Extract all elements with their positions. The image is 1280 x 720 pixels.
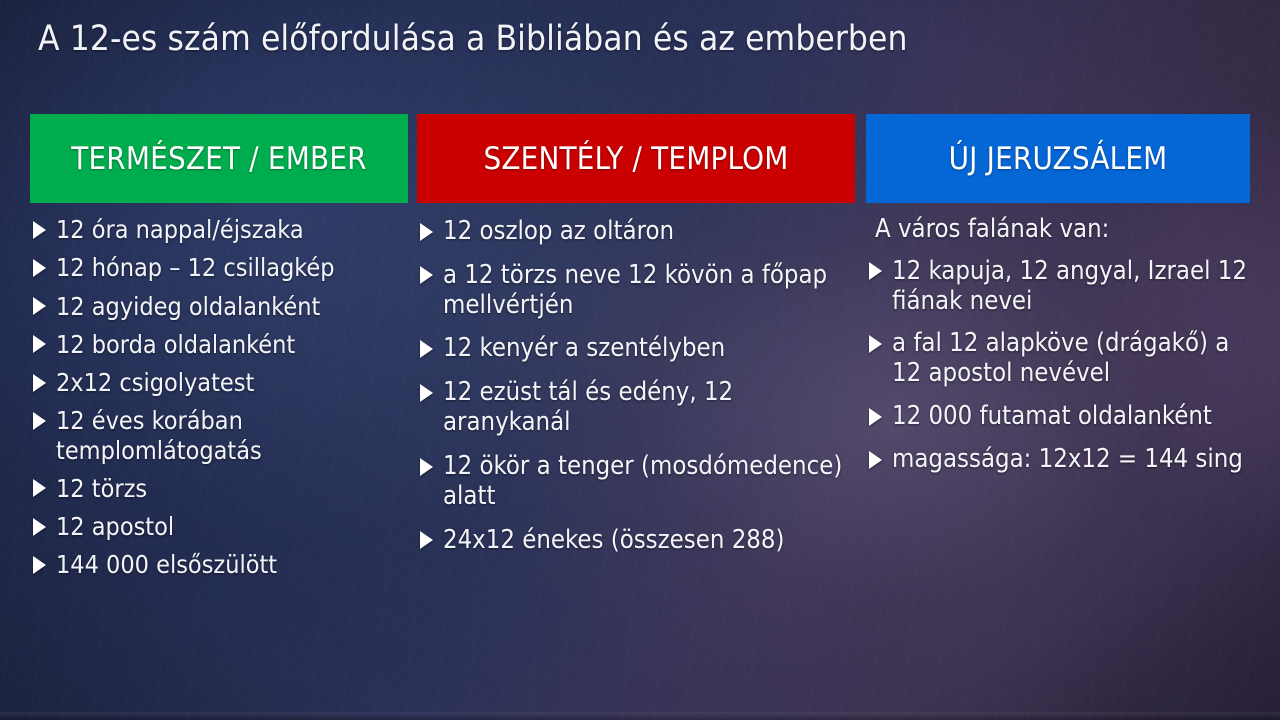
bullet-list-uj-jeruzsalem: A város falának van: 12 kapuja, 12 angya… <box>866 215 1250 475</box>
list-item: 12 apostol <box>30 512 408 541</box>
triangle-right-icon <box>869 451 882 469</box>
list-item: 12 agyideg oldalanként <box>30 292 408 321</box>
triangle-right-icon <box>420 266 433 284</box>
list-item-label: 12 agyideg oldalanként <box>56 292 408 321</box>
list-item: 12 000 futamat oldalanként <box>866 402 1250 432</box>
list-item: 12 kapuja, 12 angyal, Izrael 12 fiának n… <box>866 257 1250 317</box>
list-item-label: 2x12 csigolyatest <box>56 368 408 397</box>
list-item-label: 12 éves korában templomlátogatás <box>56 406 408 465</box>
list-item: 12 éves korában templomlátogatás <box>30 406 408 465</box>
triangle-right-icon <box>33 412 46 430</box>
list-item: a 12 törzs neve 12 kövön a főpap mellvér… <box>417 261 855 321</box>
triangle-right-icon <box>869 408 882 426</box>
triangle-right-icon <box>33 221 46 239</box>
triangle-right-icon <box>33 297 46 315</box>
list-intro-text: A város falának van: <box>866 215 1250 245</box>
list-item-label: a 12 törzs neve 12 kövön a főpap mellvér… <box>443 261 855 321</box>
triangle-right-icon <box>420 223 433 241</box>
list-item: 12 óra nappal/éjszaka <box>30 215 408 244</box>
list-item: 12 kenyér a szentélyben <box>417 334 855 364</box>
triangle-right-icon <box>33 479 46 497</box>
presentation-slide: A 12-es szám előfordulása a Bibliában és… <box>0 0 1280 720</box>
list-item: 12 oszlop az oltáron <box>417 217 855 247</box>
column-body-termeszet-ember: 12 óra nappal/éjszaka 12 hónap – 12 csil… <box>30 215 408 580</box>
list-item-label: 12 000 futamat oldalanként <box>892 402 1250 432</box>
list-item-label: 24x12 énekes (összesen 288) <box>443 526 855 556</box>
list-item-label: 12 apostol <box>56 512 408 541</box>
list-item-label: 12 borda oldalanként <box>56 330 408 359</box>
triangle-right-icon <box>869 335 882 353</box>
list-item-label: a fal 12 alapköve (drágakő) a 12 apostol… <box>892 329 1250 389</box>
list-item: 2x12 csigolyatest <box>30 368 408 397</box>
triangle-right-icon <box>33 518 46 536</box>
list-item: a fal 12 alapköve (drágakő) a 12 apostol… <box>866 329 1250 389</box>
triangle-right-icon <box>869 262 882 280</box>
list-item: 12 ökör a tenger (mosdómedence) alatt <box>417 452 855 512</box>
list-item-label: 12 óra nappal/éjszaka <box>56 215 408 244</box>
triangle-right-icon <box>420 340 433 358</box>
list-item-label: 12 törzs <box>56 474 408 503</box>
list-item: 144 000 elsőszülött <box>30 550 408 579</box>
list-item: magassága: 12x12 = 144 sing <box>866 445 1250 475</box>
list-item-label: A város falának van: <box>875 215 1250 245</box>
list-item-label: 12 kenyér a szentélyben <box>443 334 855 364</box>
list-item: 12 hónap – 12 csillagkép <box>30 253 408 282</box>
list-item-label: 12 hónap – 12 csillagkép <box>56 253 408 282</box>
list-item: 12 törzs <box>30 474 408 503</box>
triangle-right-icon <box>33 259 46 277</box>
list-item: 12 ezüst tál és edény, 12 aranykanál <box>417 378 855 438</box>
list-item-label: 12 ezüst tál és edény, 12 aranykanál <box>443 378 855 438</box>
triangle-right-icon <box>420 531 433 549</box>
list-item-label: 12 kapuja, 12 angyal, Izrael 12 fiának n… <box>892 257 1250 317</box>
list-item-label: magassága: 12x12 = 144 sing <box>892 445 1250 475</box>
triangle-right-icon <box>420 384 433 402</box>
triangle-right-icon <box>33 374 46 392</box>
column-header-uj-jeruzsalem: ÚJ JERUZSÁLEM <box>866 114 1250 203</box>
list-item-label: 12 oszlop az oltáron <box>443 217 855 247</box>
column-body-szentely-templom: 12 oszlop az oltáron a 12 törzs neve 12 … <box>417 217 855 555</box>
column-header-termeszet-ember: TERMÉSZET / EMBER <box>30 114 408 203</box>
column-body-uj-jeruzsalem: A város falának van: 12 kapuja, 12 angya… <box>866 215 1250 475</box>
triangle-right-icon <box>33 556 46 574</box>
list-item-label: 12 ökör a tenger (mosdómedence) alatt <box>443 452 855 512</box>
list-item-label: 144 000 elsőszülött <box>56 550 408 579</box>
column-uj-jeruzsalem: ÚJ JERUZSÁLEM A város falának van: 12 ka… <box>866 114 1250 488</box>
bullet-list-szentely-templom: 12 oszlop az oltáron a 12 törzs neve 12 … <box>417 217 855 555</box>
slide-title: A 12-es szám előfordulása a Bibliában és… <box>38 18 1218 60</box>
bullet-list-termeszet-ember: 12 óra nappal/éjszaka 12 hónap – 12 csil… <box>30 215 408 580</box>
column-szentely-templom: SZENTÉLY / TEMPLOM 12 oszlop az oltáron … <box>417 114 855 569</box>
triangle-right-icon <box>33 335 46 353</box>
triangle-right-icon <box>420 458 433 476</box>
column-header-szentely-templom: SZENTÉLY / TEMPLOM <box>417 114 855 203</box>
list-item: 12 borda oldalanként <box>30 330 408 359</box>
slide-bottom-edge <box>0 712 1280 720</box>
list-item: 24x12 énekes (összesen 288) <box>417 526 855 556</box>
column-termeszet-ember: TERMÉSZET / EMBER 12 óra nappal/éjszaka … <box>30 114 408 589</box>
